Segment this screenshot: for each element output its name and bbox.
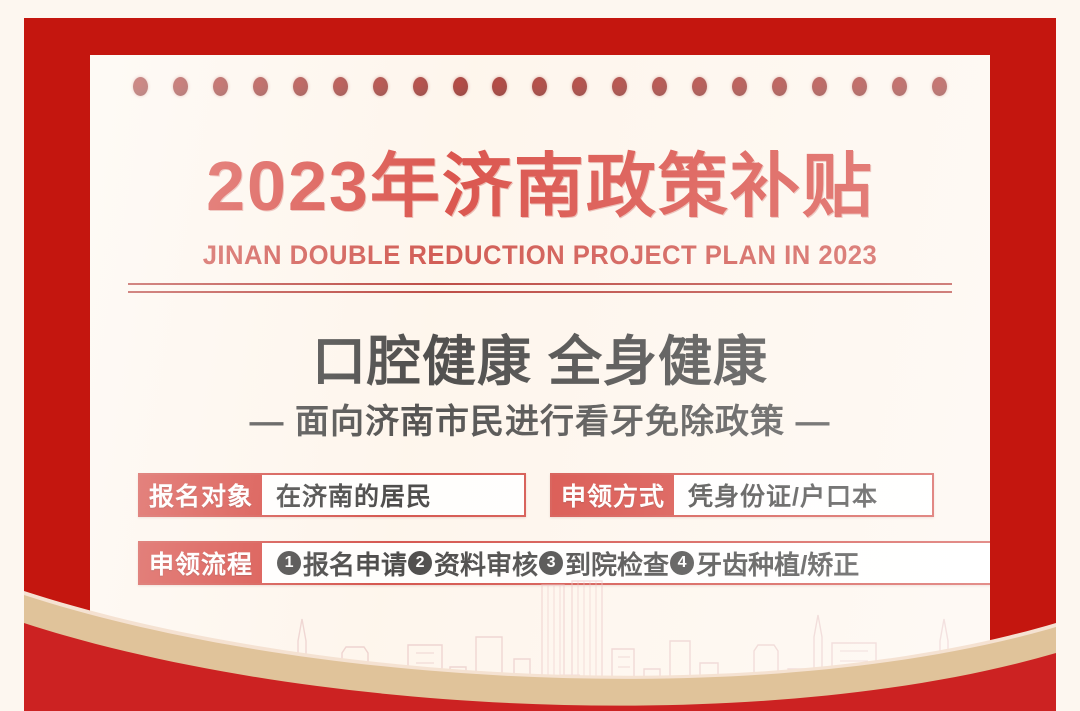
divider-rule-bottom — [128, 291, 952, 293]
divider-rule-top — [128, 283, 952, 285]
perforation-dot — [772, 77, 787, 96]
perforation-dot — [652, 77, 667, 96]
perforation-dot — [253, 77, 268, 96]
info-box-claim-method[interactable]: 申领方式 凭身份证/户口本 — [550, 473, 934, 517]
perforation-dot — [373, 77, 388, 96]
perforation-dot — [133, 77, 148, 96]
info-label-claim-method: 申领方式 — [552, 475, 674, 515]
perforation-dot — [213, 77, 228, 96]
perforation-dot — [612, 77, 627, 96]
info-value-applicant: 在济南的居民 — [262, 475, 524, 515]
perforation-dot — [892, 77, 907, 96]
poster-root: 2023年济南政策补贴 JINAN DOUBLE REDUCTION PROJE… — [0, 0, 1080, 711]
perforation-dot — [732, 77, 747, 96]
perforation-dot — [932, 77, 947, 96]
perforation-dot — [532, 77, 547, 96]
perforation-dot — [413, 77, 428, 96]
page-title-chinese: 2023年济南政策补贴 — [90, 151, 990, 221]
subheadline-policy: — 面向济南市民进行看牙免除政策 — — [90, 405, 990, 439]
perforation-dot — [812, 77, 827, 96]
info-label-applicant: 报名对象 — [140, 475, 262, 515]
info-box-row: 报名对象 在济南的居民 申领方式 凭身份证/户口本 — [138, 473, 934, 517]
bottom-band-svg — [0, 561, 1080, 711]
perforation-dot — [492, 77, 507, 96]
perforation-dot — [692, 77, 707, 96]
headline-slogan: 口腔健康 全身健康 — [90, 335, 990, 389]
perforation-dot — [293, 77, 308, 96]
info-value-claim-method: 凭身份证/户口本 — [674, 475, 932, 515]
bottom-curved-bands — [0, 561, 1080, 711]
perforation-dot — [173, 77, 188, 96]
perforation-dot — [453, 77, 468, 96]
info-box-applicant[interactable]: 报名对象 在济南的居民 — [138, 473, 526, 517]
perforation-dot-row — [90, 77, 990, 103]
page-title-english: JINAN DOUBLE REDUCTION PROJECT PLAN IN 2… — [113, 240, 968, 271]
perforation-dot — [852, 77, 867, 96]
perforation-dot — [333, 77, 348, 96]
perforation-dot — [572, 77, 587, 96]
